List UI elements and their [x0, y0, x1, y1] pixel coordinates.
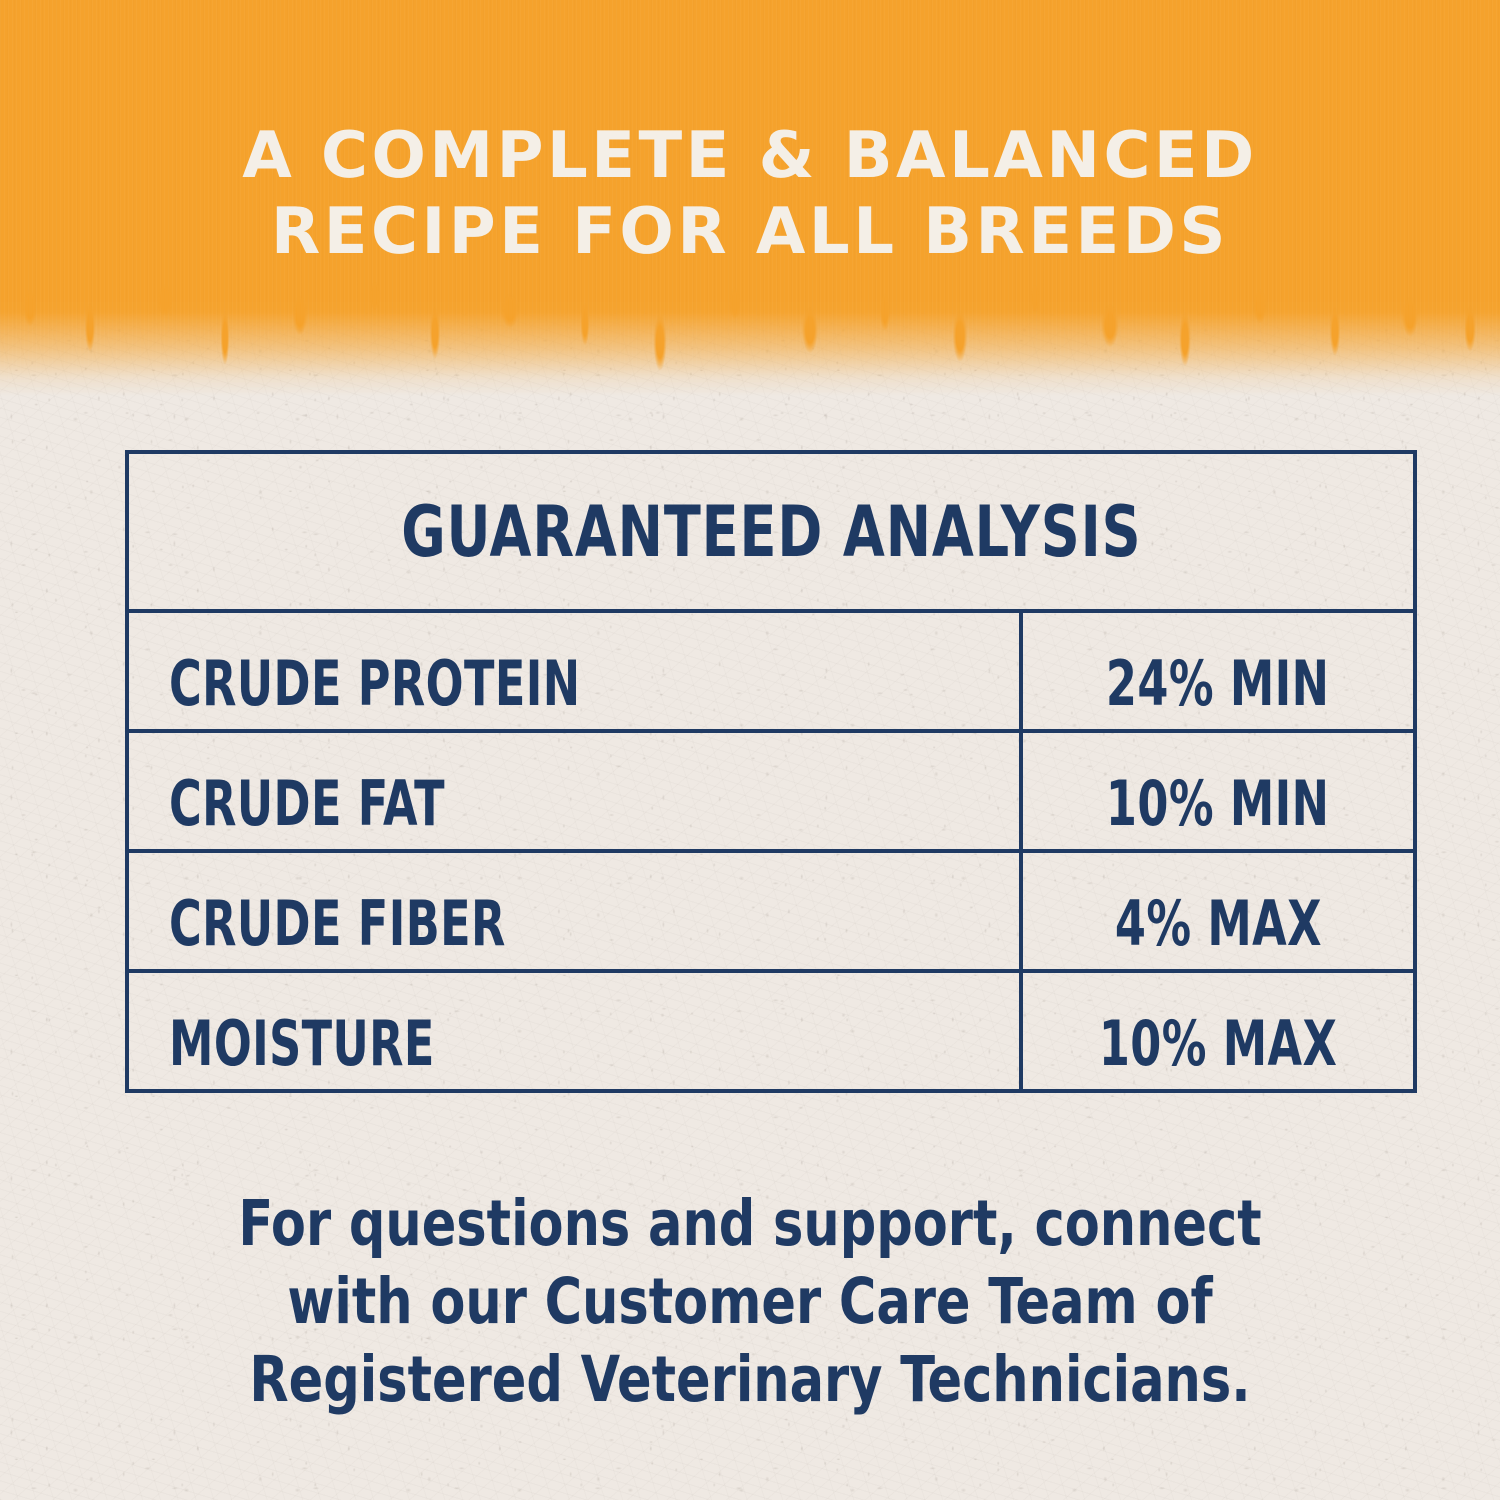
- nutrient-value: 10% MAX: [1099, 1013, 1338, 1075]
- nutrient-label: CRUDE FAT: [169, 773, 445, 835]
- table-row: MOISTURE 10% MAX: [129, 973, 1413, 1089]
- customer-care-message: For questions and support, connect with …: [174, 1185, 1326, 1419]
- table-row: CRUDE FIBER 4% MAX: [129, 853, 1413, 973]
- guaranteed-analysis-title: GUARANTEED ANALYSIS: [401, 497, 1141, 567]
- product-label-panel: A COMPLETE & BALANCED RECIPE FOR ALL BRE…: [0, 0, 1500, 1500]
- guaranteed-analysis-table: GUARANTEED ANALYSIS CRUDE PROTEIN 24% MI…: [125, 450, 1417, 1093]
- nutrient-value-cell: 10% MAX: [1023, 973, 1413, 1089]
- guaranteed-analysis-header: GUARANTEED ANALYSIS: [129, 454, 1413, 613]
- nutrient-value: 10% MIN: [1106, 773, 1329, 835]
- nutrient-value-cell: 4% MAX: [1023, 853, 1413, 969]
- orange-banner: A COMPLETE & BALANCED RECIPE FOR ALL BRE…: [0, 0, 1500, 400]
- guaranteed-analysis-rows: CRUDE PROTEIN 24% MIN CRUDE FAT 10% MIN …: [129, 613, 1413, 1089]
- table-row: CRUDE FAT 10% MIN: [129, 733, 1413, 853]
- nutrient-value-cell: 24% MIN: [1023, 613, 1413, 729]
- nutrient-label-cell: MOISTURE: [129, 973, 1023, 1089]
- nutrient-label-cell: CRUDE PROTEIN: [129, 613, 1023, 729]
- nutrient-label: CRUDE FIBER: [169, 893, 506, 955]
- table-row: CRUDE PROTEIN 24% MIN: [129, 613, 1413, 733]
- nutrient-value: 24% MIN: [1106, 653, 1329, 715]
- nutrient-value: 4% MAX: [1114, 893, 1321, 955]
- nutrient-label: CRUDE PROTEIN: [169, 653, 580, 715]
- nutrient-label-cell: CRUDE FAT: [129, 733, 1023, 849]
- nutrient-label-cell: CRUDE FIBER: [129, 853, 1023, 969]
- nutrient-value-cell: 10% MIN: [1023, 733, 1413, 849]
- nutrient-label: MOISTURE: [169, 1013, 435, 1075]
- banner-headline: A COMPLETE & BALANCED RECIPE FOR ALL BRE…: [0, 118, 1500, 270]
